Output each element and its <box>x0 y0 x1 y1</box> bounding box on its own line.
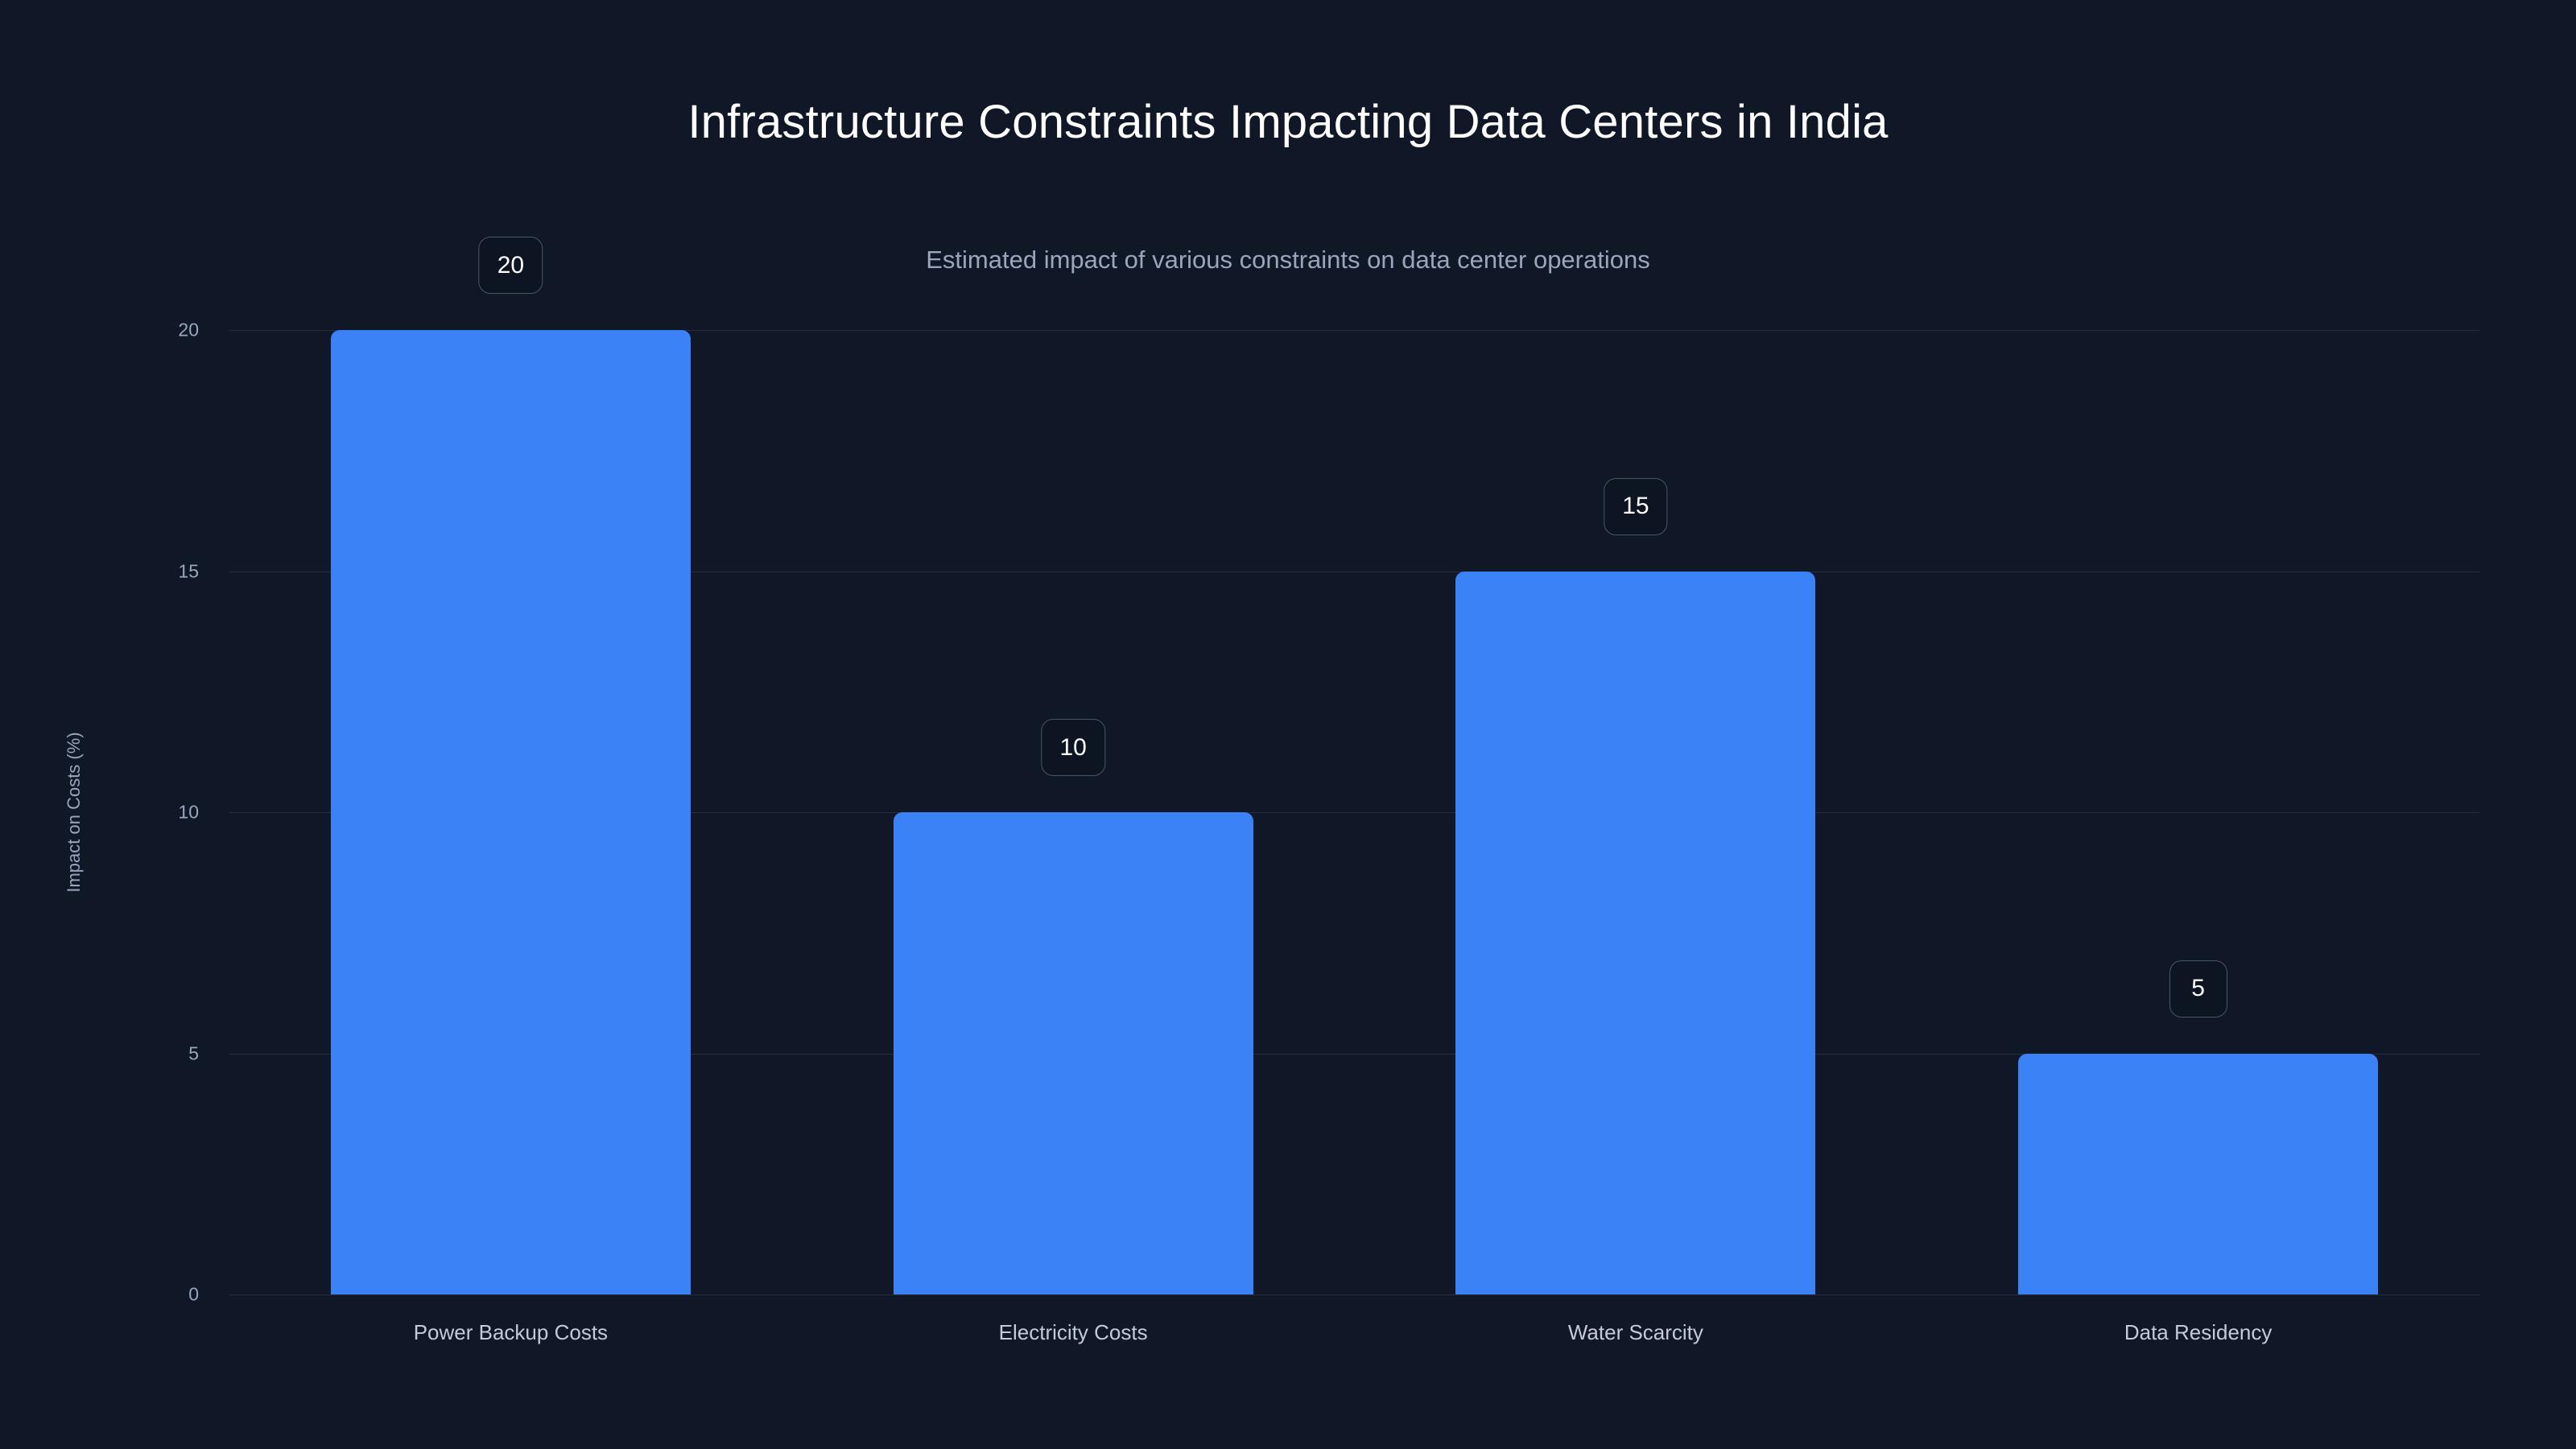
y-axis-tick-labels: 0 5 10 15 20 <box>0 330 229 1294</box>
bar-data-residency[interactable] <box>2018 1054 2378 1295</box>
value-badge-water-scarcity: 15 <box>1604 478 1667 535</box>
x-tick-label-data-residency: Data Residency <box>2124 1320 2273 1345</box>
value-badge-electricity-costs: 10 <box>1041 719 1104 776</box>
y-tick-label-0: 0 <box>188 1284 199 1306</box>
y-tick-label-10: 10 <box>178 802 199 824</box>
bar-water-scarcity[interactable] <box>1455 572 1815 1295</box>
x-tick-label-power-backup-costs: Power Backup Costs <box>414 1320 608 1345</box>
value-badge-data-residency: 5 <box>2169 960 2227 1018</box>
x-tick-label-water-scarcity: Water Scarcity <box>1568 1320 1703 1345</box>
x-axis-tick-labels: Power Backup Costs Electricity Costs Wat… <box>229 1320 2479 1360</box>
x-tick-label-electricity-costs: Electricity Costs <box>999 1320 1148 1345</box>
y-tick-label-15: 15 <box>178 560 199 582</box>
gridline-20 <box>229 1294 2479 1295</box>
bar-electricity-costs[interactable] <box>894 812 1253 1294</box>
bar-power-backup-costs[interactable] <box>331 330 691 1294</box>
y-tick-label-5: 5 <box>188 1042 199 1064</box>
chart-subtitle: Estimated impact of various constraints … <box>0 246 2576 275</box>
bar-chart-canvas: Infrastructure Constraints Impacting Dat… <box>0 0 2576 1449</box>
value-badge-power-backup-costs: 20 <box>479 237 543 294</box>
chart-title: Infrastructure Constraints Impacting Dat… <box>0 95 2576 149</box>
y-tick-label-20: 20 <box>178 320 199 341</box>
plot-area: 20 10 15 5 <box>229 330 2479 1294</box>
